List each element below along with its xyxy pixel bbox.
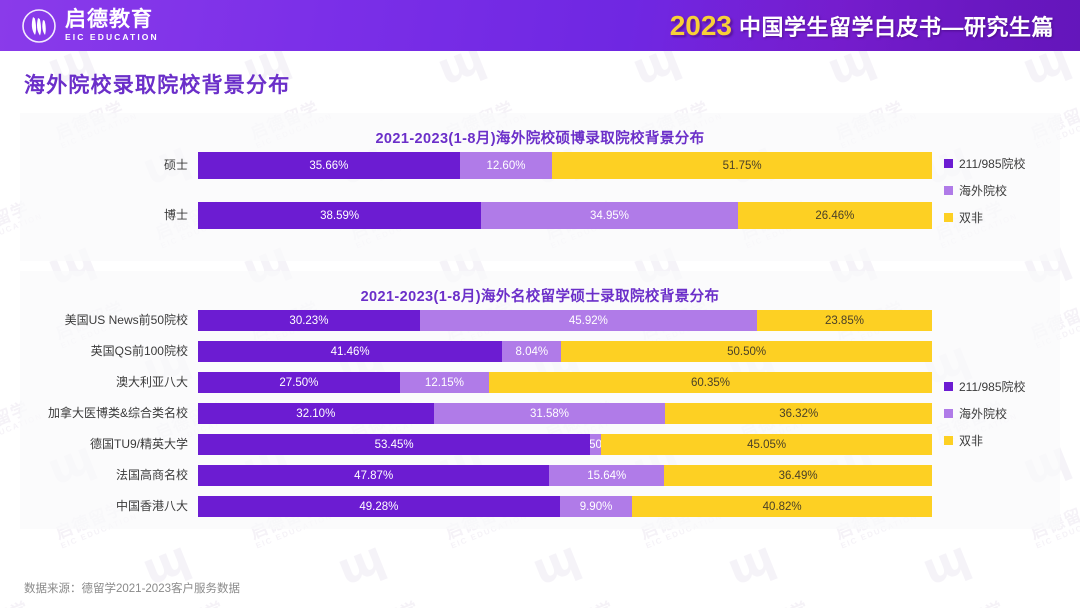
bar-segment: 53.45%	[198, 434, 590, 455]
bar-segment: 41.46%	[198, 341, 502, 362]
bar-segment: 45.92%	[420, 310, 757, 331]
page-title: 海外院校录取院校背景分布	[24, 69, 1080, 99]
category-label: 中国香港八大	[20, 496, 198, 517]
chart-2-plot-area: 30.23%45.92%23.85%41.46%8.04%50.50%27.50…	[198, 310, 932, 517]
category-label: 英国QS前100院校	[20, 341, 198, 362]
brand-logo[interactable]: 启德教育 EIC EDUCATION	[22, 9, 159, 43]
stacked-bar: 41.46%8.04%50.50%	[198, 341, 932, 362]
chart-panel-2: 2021-2023(1-8月)海外名校留学硕士录取院校背景分布 美国US New…	[20, 271, 1060, 529]
bar-segment: 34.95%	[481, 202, 738, 229]
bar-value-label: 53.45%	[375, 439, 414, 451]
bar-value-label: 15.64%	[587, 470, 626, 482]
bar-value-label: 12.60%	[486, 160, 525, 172]
square-swatch	[944, 186, 953, 195]
bar-value-label: 1.50%	[590, 439, 601, 451]
bar-segment: 15.64%	[549, 465, 664, 486]
legend-item[interactable]: 双非	[944, 432, 1060, 449]
square-swatch	[944, 213, 953, 222]
bar-segment: 8.04%	[502, 341, 561, 362]
bar-value-label: 23.85%	[825, 315, 864, 327]
bar-value-label: 47.87%	[354, 470, 393, 482]
bar-segment: 38.59%	[198, 202, 481, 229]
stacked-bar: 27.50%12.15%60.35%	[198, 372, 932, 393]
chart-2-title: 2021-2023(1-8月)海外名校留学硕士录取院校背景分布	[20, 285, 1060, 306]
bar-value-label: 31.58%	[530, 408, 569, 420]
category-label: 澳大利亚八大	[20, 372, 198, 393]
brand-name-en: EIC EDUCATION	[65, 33, 159, 42]
bar-segment: 27.50%	[198, 372, 400, 393]
bar-value-label: 9.90%	[580, 501, 613, 513]
bar-value-label: 12.15%	[425, 377, 464, 389]
square-swatch	[944, 409, 953, 418]
legend-item[interactable]: 211/985院校	[944, 378, 1060, 395]
stacked-bar: 38.59%34.95%26.46%	[198, 202, 932, 229]
bar-segment: 12.60%	[460, 152, 552, 179]
category-label: 硕士	[20, 152, 198, 179]
bar-segment: 47.87%	[198, 465, 549, 486]
bar-segment: 60.35%	[489, 372, 932, 393]
stacked-bar: 49.28%9.90%40.82%	[198, 496, 932, 517]
legend-label: 211/985院校	[959, 155, 1026, 172]
category-label: 法国高商名校	[20, 465, 198, 486]
square-swatch	[944, 382, 953, 391]
chart-1-title: 2021-2023(1-8月)海外院校硕博录取院校背景分布	[20, 127, 1060, 148]
legend-label: 211/985院校	[959, 378, 1026, 395]
bar-value-label: 36.32%	[779, 408, 818, 420]
bar-segment: 23.85%	[757, 310, 932, 331]
bar-segment: 36.49%	[664, 465, 932, 486]
bar-value-label: 35.66%	[309, 160, 348, 172]
chart-1-legend: 211/985院校海外院校双非	[932, 152, 1060, 229]
bar-segment: 9.90%	[560, 496, 633, 517]
bar-segment: 26.46%	[738, 202, 932, 229]
bar-segment: 50.50%	[561, 341, 932, 362]
bar-segment: 32.10%	[198, 403, 434, 424]
bar-value-label: 32.10%	[296, 408, 335, 420]
bar-value-label: 38.59%	[320, 210, 359, 222]
chart-1-category-axis: 硕士博士	[20, 152, 198, 229]
header-title-text: 中国学生留学白皮书—研究生篇	[739, 10, 1054, 42]
category-label: 美国US News前50院校	[20, 310, 198, 331]
bar-value-label: 34.95%	[590, 210, 629, 222]
bar-value-label: 36.49%	[779, 470, 818, 482]
category-label: 德国TU9/精英大学	[20, 434, 198, 455]
legend-item[interactable]: 双非	[944, 209, 1060, 226]
header-year: 2023	[670, 10, 732, 42]
bar-value-label: 30.23%	[289, 315, 328, 327]
bar-value-label: 45.05%	[747, 439, 786, 451]
bar-value-label: 27.50%	[279, 377, 318, 389]
bar-value-label: 49.28%	[359, 501, 398, 513]
legend-item[interactable]: 211/985院校	[944, 155, 1060, 172]
bar-value-label: 50.50%	[727, 346, 766, 358]
category-label: 博士	[20, 202, 198, 229]
bar-segment: 30.23%	[198, 310, 420, 331]
stacked-bar: 32.10%31.58%36.32%	[198, 403, 932, 424]
chart-2-category-axis: 美国US News前50院校英国QS前100院校澳大利亚八大加拿大医博类&综合类…	[20, 310, 198, 517]
chart-2-legend: 211/985院校海外院校双非	[932, 310, 1060, 517]
chart-1-plot-area: 35.66%12.60%51.75%38.59%34.95%26.46%	[198, 152, 932, 229]
legend-item[interactable]: 海外院校	[944, 405, 1060, 422]
bar-value-label: 26.46%	[815, 210, 854, 222]
bar-segment: 36.32%	[665, 403, 932, 424]
chart-panel-1: 2021-2023(1-8月)海外院校硕博录取院校背景分布 硕士博士 35.66…	[20, 113, 1060, 261]
stacked-bar: 47.87%15.64%36.49%	[198, 465, 932, 486]
category-label: 加拿大医博类&综合类名校	[20, 403, 198, 424]
page-header: 启德教育 EIC EDUCATION 2023 中国学生留学白皮书—研究生篇	[0, 0, 1080, 51]
bar-segment: 31.58%	[434, 403, 666, 424]
bar-segment: 49.28%	[198, 496, 560, 517]
legend-label: 海外院校	[959, 182, 1007, 199]
square-swatch	[944, 159, 953, 168]
bar-value-label: 45.92%	[569, 315, 608, 327]
legend-item[interactable]: 海外院校	[944, 182, 1060, 199]
stacked-bar: 30.23%45.92%23.85%	[198, 310, 932, 331]
bar-segment: 12.15%	[400, 372, 489, 393]
brand-name-cn: 启德教育	[65, 9, 159, 30]
bar-segment: 45.05%	[601, 434, 932, 455]
bar-segment: 51.75%	[552, 152, 932, 179]
eic-logo-icon	[22, 9, 56, 43]
legend-label: 海外院校	[959, 405, 1007, 422]
bar-segment: 40.82%	[632, 496, 932, 517]
bar-segment: 1.50%	[590, 434, 601, 455]
legend-label: 双非	[959, 432, 983, 449]
bar-value-label: 60.35%	[691, 377, 730, 389]
data-source-note: 数据来源：德留学2021-2023客户服务数据	[24, 580, 240, 596]
bar-value-label: 51.75%	[723, 160, 762, 172]
bar-segment: 35.66%	[198, 152, 460, 179]
square-swatch	[944, 436, 953, 445]
bar-value-label: 8.04%	[516, 346, 549, 358]
bar-value-label: 40.82%	[763, 501, 802, 513]
bar-value-label: 41.46%	[331, 346, 370, 358]
legend-label: 双非	[959, 209, 983, 226]
stacked-bar: 35.66%12.60%51.75%	[198, 152, 932, 179]
stacked-bar: 53.45%1.50%45.05%	[198, 434, 932, 455]
header-title: 2023 中国学生留学白皮书—研究生篇	[670, 10, 1054, 42]
